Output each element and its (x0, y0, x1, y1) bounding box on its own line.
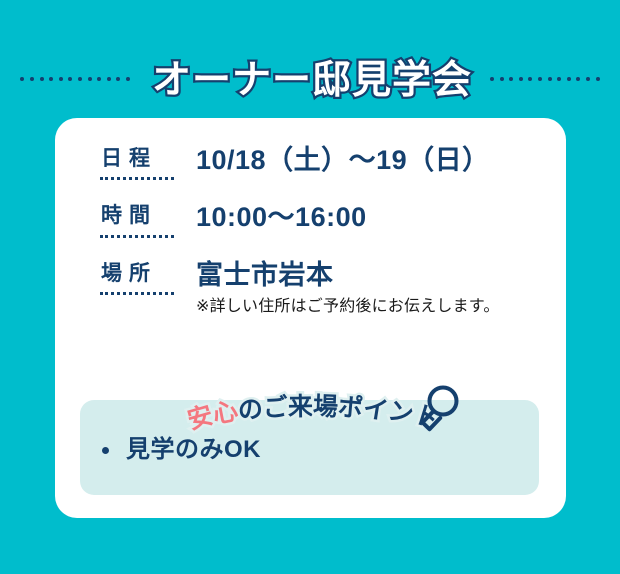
detail-row-time: 時間 10:00〜16:00 (100, 203, 550, 237)
detail-note: ※詳しい住所はご予約後にお伝えします。 (196, 297, 550, 316)
dot (40, 77, 44, 81)
heading-char: の (237, 397, 265, 425)
dot (548, 77, 552, 81)
heading-char: ご (262, 395, 289, 422)
dot (97, 77, 101, 81)
dot (116, 77, 120, 81)
dot (88, 77, 92, 81)
detail-label: 日程 (100, 146, 174, 180)
detail-value: 富士市岩本 (196, 261, 550, 291)
dot (68, 77, 72, 81)
detail-label: 場所 (100, 261, 174, 295)
dot (528, 77, 532, 81)
dot (586, 77, 590, 81)
heading-char: ポ (337, 395, 364, 422)
title-band: オーナー邸見学会 (0, 48, 620, 110)
heading-char: 場 (313, 395, 339, 421)
detail-value: 10:00〜16:00 (196, 203, 550, 233)
dot (107, 77, 111, 81)
detail-row-date: 日程 10/18（土）〜19（日） (100, 146, 550, 180)
dot (576, 77, 580, 81)
heading-char: 来 (288, 395, 313, 420)
dot (490, 77, 494, 81)
decorative-dots-right (490, 77, 600, 81)
dot (538, 77, 542, 81)
detail-value: 10/18（土）〜19（日） (196, 146, 550, 176)
dot (49, 77, 53, 81)
dot (78, 77, 82, 81)
visit-points-box: 安 心 の ご 来 場 ポ イ ン ト 見学のみOK (80, 400, 539, 495)
dot (567, 77, 571, 81)
dot (59, 77, 63, 81)
list-item: 見学のみOK (102, 436, 261, 465)
dot (596, 77, 600, 81)
dot (509, 77, 513, 81)
dot (500, 77, 504, 81)
dot (126, 77, 130, 81)
magnifying-glass-icon (416, 384, 460, 434)
decorative-dots-left (20, 77, 130, 81)
dot (30, 77, 34, 81)
event-details-list: 日程 10/18（土）〜19（日） 時間 10:00〜16:00 場所 富士市岩… (100, 146, 550, 316)
detail-value-wrap: 10/18（土）〜19（日） (196, 146, 550, 176)
visit-points-items: 見学のみOK (102, 436, 261, 465)
detail-value-wrap: 10:00〜16:00 (196, 203, 550, 233)
list-item-label: 見学のみOK (126, 436, 261, 465)
dot (20, 77, 24, 81)
detail-value-wrap: 富士市岩本 ※詳しい住所はご予約後にお伝えします。 (196, 261, 550, 317)
dot (519, 77, 523, 81)
detail-label: 時間 (100, 203, 174, 237)
detail-row-place: 場所 富士市岩本 ※詳しい住所はご予約後にお伝えします。 (100, 261, 550, 317)
page-title: オーナー邸見学会 (152, 61, 472, 100)
bullet-dot-icon (102, 447, 109, 454)
heading-char: 心 (211, 399, 240, 428)
event-info-card: 日程 10/18（土）〜19（日） 時間 10:00〜16:00 場所 富士市岩… (55, 118, 566, 518)
visit-points-heading: 安 心 の ご 来 場 ポ イ ン ト (188, 378, 438, 424)
dot (557, 77, 561, 81)
